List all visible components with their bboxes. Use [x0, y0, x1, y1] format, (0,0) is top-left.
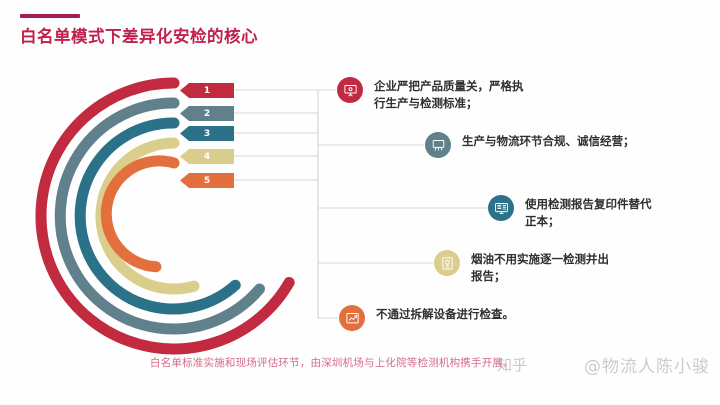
arc-segment-5: [106, 161, 174, 267]
list-item-3-text: 使用检测报告复印件替代 正本；: [525, 195, 652, 229]
tag-4-number: 4: [204, 152, 210, 162]
list-item-2[interactable]: 生产与物流环节合规、诚信经营；: [425, 132, 635, 158]
growth-chart-icon: [339, 305, 365, 331]
list-item-1-text: 企业严把产品质量关，严格执 行生产与检测标准；: [374, 77, 524, 111]
tag-4[interactable]: 4: [180, 149, 234, 164]
page-title: 白名单模式下差异化安检的核心: [20, 23, 258, 47]
slide-canvas: 白名单模式下差异化安检的核心 1 2 3: [0, 0, 720, 405]
list-item-2-text: 生产与物流环节合规、诚信经营；: [462, 132, 635, 150]
title-accent-bar: [20, 14, 80, 18]
tag-3[interactable]: 3: [180, 126, 234, 141]
concentric-arc-chart: [24, 66, 324, 366]
watermark-brand: 知乎: [497, 354, 527, 375]
tag-2[interactable]: 2: [180, 106, 234, 121]
tag-2-number: 2: [204, 109, 210, 119]
tag-1-number: 1: [204, 86, 210, 96]
presentation-board-icon: [337, 77, 363, 103]
tag-5[interactable]: 5: [180, 173, 234, 188]
monitor-document-icon: [488, 195, 514, 221]
whiteboard-easel-icon: [425, 132, 451, 158]
list-item-3[interactable]: 使用检测报告复印件替代 正本；: [488, 195, 652, 229]
certificate-seal-icon: [434, 250, 460, 276]
tag-3-number: 3: [204, 129, 210, 139]
list-item-4[interactable]: 烟油不用实施逐一检测并出 报告；: [434, 250, 609, 284]
footer-caption: 白名单标准实施和现场评估环节，由深圳机场与上化院等检测机构携手开展。: [150, 355, 514, 370]
tag-1[interactable]: 1: [180, 83, 234, 98]
watermark-handle: @物流人陈小骏: [584, 352, 710, 377]
list-item-4-text: 烟油不用实施逐一检测并出 报告；: [471, 250, 609, 284]
list-item-1[interactable]: 企业严把产品质量关，严格执 行生产与检测标准；: [337, 77, 524, 111]
list-item-5-text: 不通过拆解设备进行检查。: [376, 305, 514, 323]
tag-5-number: 5: [204, 176, 210, 186]
list-item-5[interactable]: 不通过拆解设备进行检查。: [339, 305, 514, 331]
